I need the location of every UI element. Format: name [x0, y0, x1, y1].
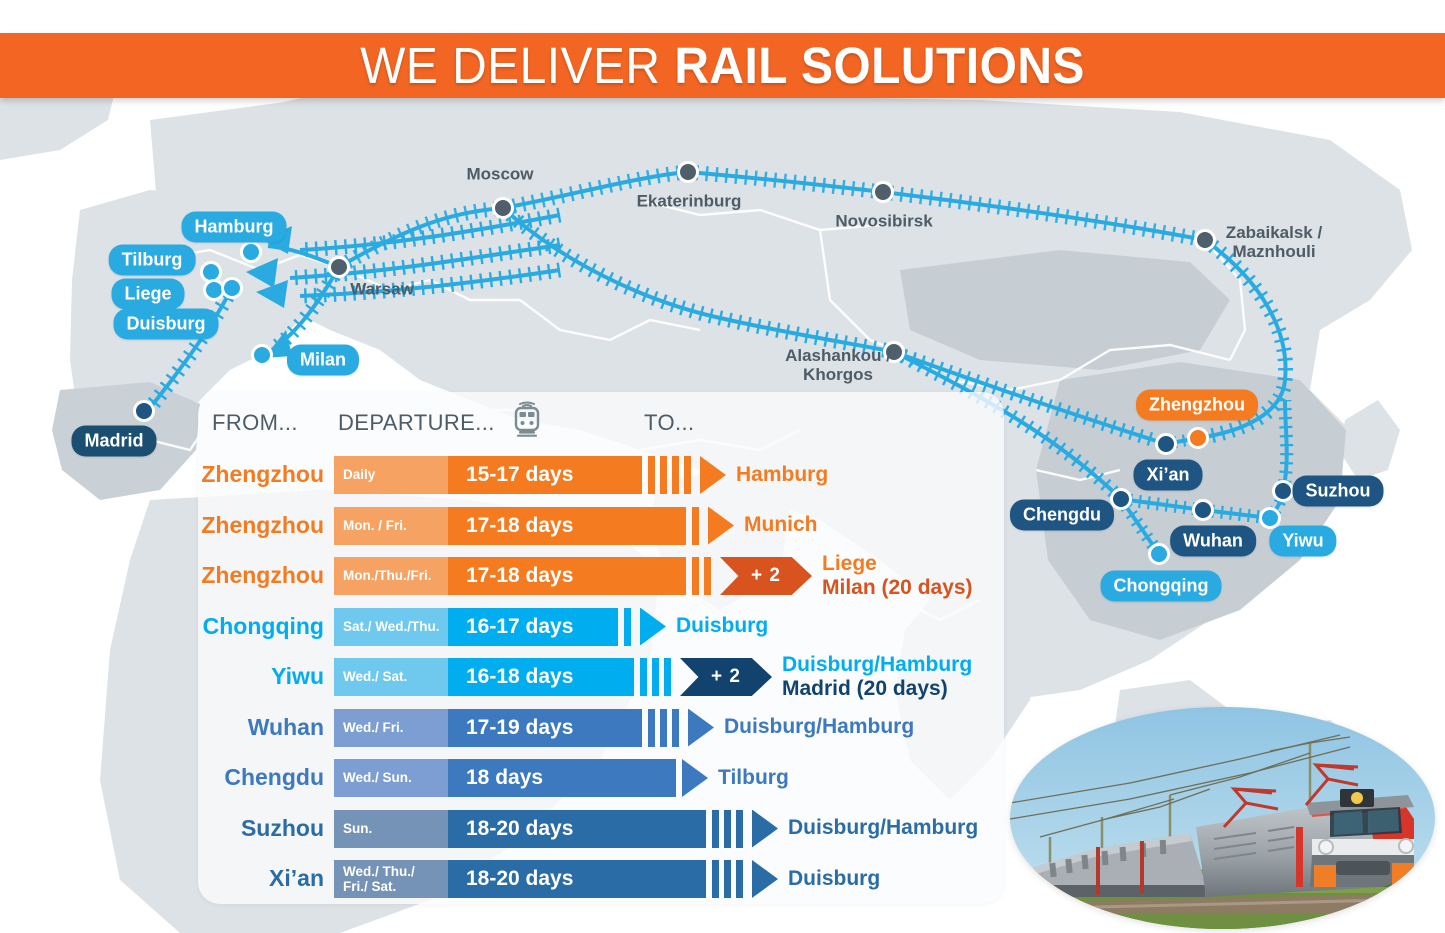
page-title: WE DELIVER RAIL SOLUTIONS — [360, 40, 1085, 91]
table-row[interactable]: Xi’anWed./ Thu./ Fri./ Sat.18-20 daysDui… — [198, 854, 1004, 903]
warsaw-dot — [328, 256, 350, 278]
hamburg-dot — [240, 241, 262, 263]
page-title-thin: WE DELIVER — [360, 37, 660, 94]
row-destination-primary: Duisburg/Hamburg — [724, 715, 914, 739]
row-duration: 17-18 days — [448, 557, 686, 595]
row-destination: Duisburg — [788, 854, 880, 903]
map-pill-suzhou: Suzhou — [1293, 476, 1384, 507]
row-arrow-head — [752, 810, 778, 848]
row-destination: Duisburg/HamburgMadrid (20 days) — [782, 652, 972, 701]
map-pill-wuhan: Wuhan — [1170, 526, 1256, 557]
row-motion-dashes — [624, 608, 631, 646]
column-header-from: FROM... — [212, 410, 298, 436]
row-arrow-head — [752, 860, 778, 898]
map-pill-chengdu: Chengdu — [1010, 500, 1114, 531]
row-transit-bar: Sat./ Wed./Thu.16-17 days — [334, 608, 618, 646]
row-duration: 16-17 days — [448, 608, 618, 646]
suzhou-dot — [1272, 480, 1294, 502]
row-arrow-head — [700, 456, 726, 494]
row-destination: Duisburg/Hamburg — [724, 703, 914, 752]
row-origin-city: Chengdu — [198, 753, 324, 802]
map-pill-duisburg: Duisburg — [114, 309, 219, 340]
row-departure-days: Wed./ Sat. — [334, 658, 448, 696]
row-duration: 18-20 days — [448, 860, 706, 898]
row-motion-dashes — [640, 658, 671, 696]
row-departure-days: Mon./Thu./Fri. — [334, 557, 448, 595]
map-label-warsaw: Warsaw — [350, 279, 414, 298]
row-destination: Munich — [744, 501, 818, 550]
row-destination-primary: Munich — [744, 513, 818, 537]
row-destination-primary: Tilburg — [718, 766, 789, 790]
row-destination: Hamburg — [736, 450, 828, 499]
chongqing-dot — [1148, 543, 1170, 565]
table-row[interactable]: ZhengzhouMon./Thu./Fri.17-18 days+ 2Lieg… — [198, 551, 1004, 600]
page-title-bold: RAIL SOLUTIONS — [674, 37, 1085, 94]
row-destination-secondary: Milan (20 days) — [822, 576, 973, 600]
duisburg-dot — [221, 277, 243, 299]
locomotive-photo — [1010, 707, 1435, 929]
row-arrow-head — [688, 709, 714, 747]
row-duration: 17-19 days — [448, 709, 642, 747]
novosibirsk-dot — [872, 181, 894, 203]
row-destination-primary: Duisburg — [676, 614, 768, 638]
ekaterinburg-dot — [677, 161, 699, 183]
row-arrow-head — [682, 759, 708, 797]
row-destination-primary: Duisburg/Hamburg — [782, 653, 972, 677]
column-header-to: TO... — [644, 410, 695, 436]
table-row[interactable]: YiwuWed./ Sat.16-18 days+ 2Duisburg/Hamb… — [198, 652, 1004, 701]
row-origin-city: Xi’an — [198, 854, 324, 903]
row-destination-secondary: Madrid (20 days) — [782, 677, 972, 701]
row-transit-bar: Sun.18-20 days — [334, 810, 706, 848]
header-banner: WE DELIVER RAIL SOLUTIONS — [0, 33, 1445, 98]
map-label-zabaikalsk: Zabaikalsk /Maznhouli — [1226, 223, 1322, 261]
map-pill-hamburg: Hamburg — [181, 212, 286, 243]
row-transit-bar: Wed./ Fri.17-19 days — [334, 709, 642, 747]
table-row[interactable]: SuzhouSun.18-20 daysDuisburg/Hamburg — [198, 804, 1004, 853]
row-transit-bar: Wed./ Sun.18 days — [334, 759, 676, 797]
row-destination: Duisburg/Hamburg — [788, 804, 978, 853]
table-row[interactable]: WuhanWed./ Fri.17-19 daysDuisburg/Hambur… — [198, 703, 1004, 752]
row-destination-primary: Liege — [822, 552, 973, 576]
map-label-alashankou: Alashankou /Khorgos — [785, 346, 891, 384]
row-origin-city: Wuhan — [198, 703, 324, 752]
row-duration: 16-18 days — [448, 658, 634, 696]
row-destination: LiegeMilan (20 days) — [822, 551, 973, 600]
row-transit-bar: Wed./ Thu./ Fri./ Sat.18-20 days — [334, 860, 706, 898]
chengdu-dot — [1110, 488, 1132, 510]
row-destination: Duisburg — [676, 602, 768, 651]
row-extra-legs-arrow: + 2 — [720, 557, 812, 595]
row-origin-city: Zhengzhou — [198, 501, 324, 550]
row-departure-days: Wed./ Thu./ Fri./ Sat. — [334, 860, 448, 898]
milan-dot — [251, 344, 273, 366]
table-row[interactable]: ChongqingSat./ Wed./Thu.16-17 daysDuisbu… — [198, 602, 1004, 651]
map-pill-liege: Liege — [111, 279, 184, 310]
moscow-dot — [492, 197, 514, 219]
row-transit-bar: Mon. / Fri.17-18 days — [334, 507, 686, 545]
xian-dot — [1155, 433, 1177, 455]
row-motion-dashes — [692, 557, 711, 595]
column-header-departure: DEPARTURE... — [338, 410, 495, 436]
row-destination-primary: Hamburg — [736, 463, 828, 487]
row-origin-city: Zhengzhou — [198, 551, 324, 600]
row-departure-days: Sun. — [334, 810, 448, 848]
row-origin-city: Chongqing — [198, 602, 324, 651]
row-destination-primary: Duisburg — [788, 867, 880, 891]
routes-table-panel: FROM... DEPARTURE... TO... ZhengzhouDail… — [198, 392, 1004, 904]
map-label-novosibirsk: Novosibirsk — [835, 211, 932, 230]
map-pill-zhengzhou: Zhengzhou — [1136, 390, 1258, 421]
row-duration: 18-20 days — [448, 810, 706, 848]
row-transit-bar: Daily15-17 days — [334, 456, 642, 494]
map-label-ekaterinburg: Ekaterinburg — [637, 191, 742, 210]
table-row[interactable]: ChengduWed./ Sun.18 daysTilburg — [198, 753, 1004, 802]
row-arrow-head — [708, 507, 734, 545]
row-transit-bar: Wed./ Sat.16-18 days — [334, 658, 634, 696]
table-header-row: FROM... DEPARTURE... TO... — [198, 392, 1004, 448]
row-motion-dashes — [712, 860, 743, 898]
row-origin-city: Yiwu — [198, 652, 324, 701]
map-pill-tilburg: Tilburg — [109, 245, 196, 276]
map-pill-milan: Milan — [287, 345, 359, 376]
row-departure-days: Wed./ Sun. — [334, 759, 448, 797]
train-icon — [510, 400, 544, 438]
row-motion-dashes — [648, 709, 679, 747]
row-origin-city: Zhengzhou — [198, 450, 324, 499]
row-transit-bar: Mon./Thu./Fri.17-18 days — [334, 557, 686, 595]
row-duration: 18 days — [448, 759, 676, 797]
row-departure-days: Mon. / Fri. — [334, 507, 448, 545]
row-departure-days: Sat./ Wed./Thu. — [334, 608, 448, 646]
row-destination-primary: Duisburg/Hamburg — [788, 816, 978, 840]
row-duration: 15-17 days — [448, 456, 642, 494]
map-pill-xian: Xi’an — [1133, 460, 1202, 491]
row-duration: 17-18 days — [448, 507, 686, 545]
map-pill-madrid: Madrid — [71, 426, 156, 457]
table-row[interactable]: ZhengzhouMon. / Fri.17-18 daysMunich — [198, 501, 1004, 550]
row-origin-city: Suzhou — [198, 804, 324, 853]
madrid-dot — [133, 400, 155, 422]
row-motion-dashes — [712, 810, 743, 848]
row-departure-days: Daily — [334, 456, 448, 494]
row-motion-dashes — [692, 507, 699, 545]
zhengzhou-dot — [1187, 427, 1209, 449]
zabaikalsk-dot — [1194, 229, 1216, 251]
row-destination: Tilburg — [718, 753, 789, 802]
map-pill-chongqing: Chongqing — [1101, 571, 1222, 602]
row-arrow-head — [640, 608, 666, 646]
row-extra-legs-arrow: + 2 — [680, 658, 772, 696]
table-row[interactable]: ZhengzhouDaily15-17 daysHamburg — [198, 450, 1004, 499]
row-motion-dashes — [648, 456, 691, 494]
map-pill-yiwu: Yiwu — [1269, 526, 1336, 557]
row-departure-days: Wed./ Fri. — [334, 709, 448, 747]
map-label-moscow: Moscow — [466, 164, 533, 183]
wuhan-dot — [1192, 499, 1214, 521]
